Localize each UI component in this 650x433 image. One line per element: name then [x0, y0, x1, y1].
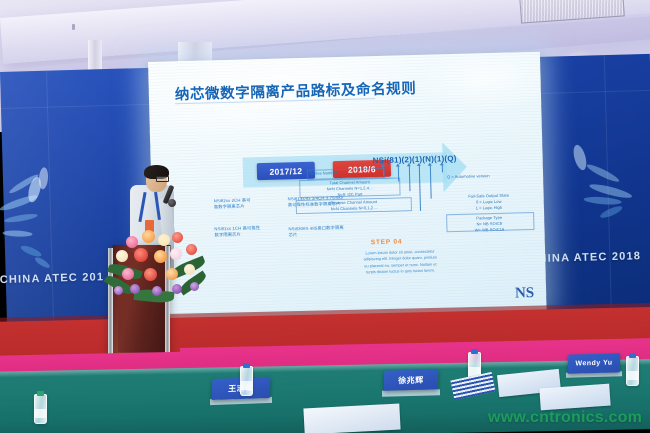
bottle-label — [627, 371, 638, 380]
water-bottle — [626, 356, 639, 386]
formula-pointer-head — [407, 163, 411, 166]
conference-photo: CHINA ATEC 201 CHINA ATEC 2018 纳芯微数字隔离产品… — [0, 0, 650, 433]
step-label: STEP 04 — [371, 238, 403, 246]
timeline-arrow-tip — [442, 142, 467, 193]
formula-pointer-head — [428, 163, 432, 166]
naming-label-total-channels: Total Channel Amount N≠N Channels N=1,2,… — [302, 179, 397, 200]
speaker-glasses-icon — [156, 176, 169, 182]
step-body-text: Lorem ipsum dolor sit amet, consectetur … — [361, 248, 440, 276]
sprinkler-icon — [72, 24, 75, 30]
bottle-cap — [243, 363, 250, 368]
bottle-label — [35, 409, 46, 418]
product-note-1ch: NSi81xx 1CH 高可靠性 数字隔离芯片 — [214, 225, 266, 239]
product-note-485: NSi8308S 485接口数字隔离 芯片 — [288, 224, 374, 239]
water-bottle — [34, 394, 47, 424]
naming-label-failsafe: Fail-Safe Output State 0 = Logic Low 1 =… — [448, 192, 530, 213]
screen-glare — [410, 52, 547, 115]
microphone-head-icon — [168, 199, 176, 207]
formula-pointer-head — [396, 163, 400, 166]
name-placard-wendy[interactable]: Wendy Yu — [568, 353, 620, 373]
document-stack — [303, 404, 400, 433]
projection-screen: 纳芯微数字隔离产品路标及命名规则 2017/12 2018/6 NSi82xx … — [148, 52, 547, 320]
name-placard-xu[interactable]: 徐兆辉 — [384, 369, 439, 390]
bottle-cap — [629, 353, 636, 358]
label-box — [446, 212, 534, 232]
formula-pointer-head — [417, 163, 421, 166]
bottle-cap — [37, 391, 44, 396]
flower-arrangement — [108, 228, 204, 308]
bottle-label — [241, 381, 252, 390]
bottle-cap — [471, 349, 478, 354]
watermark: www.cntronics.com — [488, 409, 642, 427]
formula-pointer — [442, 164, 443, 172]
formula-pointer-head — [440, 162, 444, 165]
novosense-logo: NS — [515, 285, 535, 302]
formula-pointer-head — [381, 164, 385, 167]
water-bottle — [240, 366, 253, 396]
product-note-2ch: NSi82xx 2CH 高可 靠数字隔离芯片 — [214, 197, 266, 211]
